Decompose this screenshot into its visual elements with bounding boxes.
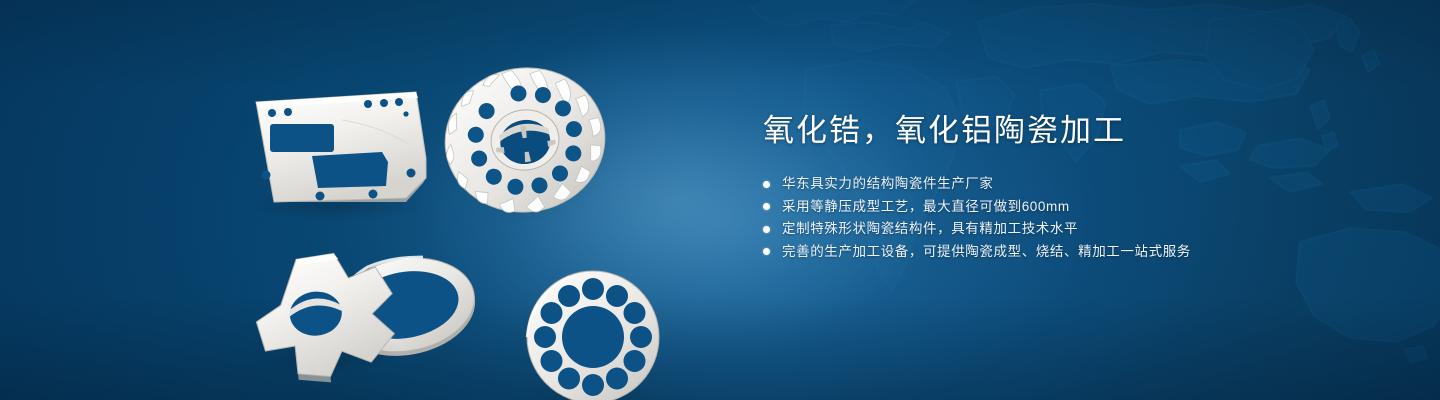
bullet-dot-icon <box>763 203 770 210</box>
feature-text: 采用等静压成型工艺，最大直径可做到600mm <box>782 200 1070 214</box>
hero-banner: 氧化锆，氧化铝陶瓷加工 华东具实力的结构陶瓷件生产厂家 采用等静压成型工艺，最大… <box>0 0 1440 400</box>
product-ceramic-perforated-disc <box>527 271 659 400</box>
product-ceramic-plate <box>243 92 427 221</box>
list-item: 华东具实力的结构陶瓷件生产厂家 <box>763 173 1363 196</box>
feature-text: 华东具实力的结构陶瓷件生产厂家 <box>782 177 994 191</box>
list-item: 定制特殊形状陶瓷结构件，具有精加工技术水平 <box>763 218 1363 241</box>
list-item: 完善的生产加工设备，可提供陶瓷成型、烧结、精加工一站式服务 <box>763 240 1363 263</box>
feature-text: 完善的生产加工设备，可提供陶瓷成型、烧结、精加工一站式服务 <box>782 245 1191 259</box>
product-photo-group <box>230 40 700 385</box>
banner-headline: 氧化锆，氧化铝陶瓷加工 <box>763 112 1363 151</box>
banner-copy: 氧化锆，氧化铝陶瓷加工 华东具实力的结构陶瓷件生产厂家 采用等静压成型工艺，最大… <box>763 112 1363 263</box>
feature-text: 定制特殊形状陶瓷结构件，具有精加工技术水平 <box>782 222 1078 236</box>
bullet-dot-icon <box>763 226 770 233</box>
product-ceramic-impeller <box>430 57 623 239</box>
bullet-dot-icon <box>763 248 770 255</box>
list-item: 采用等静压成型工艺，最大直径可做到600mm <box>763 195 1363 218</box>
feature-list: 华东具实力的结构陶瓷件生产厂家 采用等静压成型工艺，最大直径可做到600mm 定… <box>763 173 1363 263</box>
bullet-dot-icon <box>763 181 770 188</box>
